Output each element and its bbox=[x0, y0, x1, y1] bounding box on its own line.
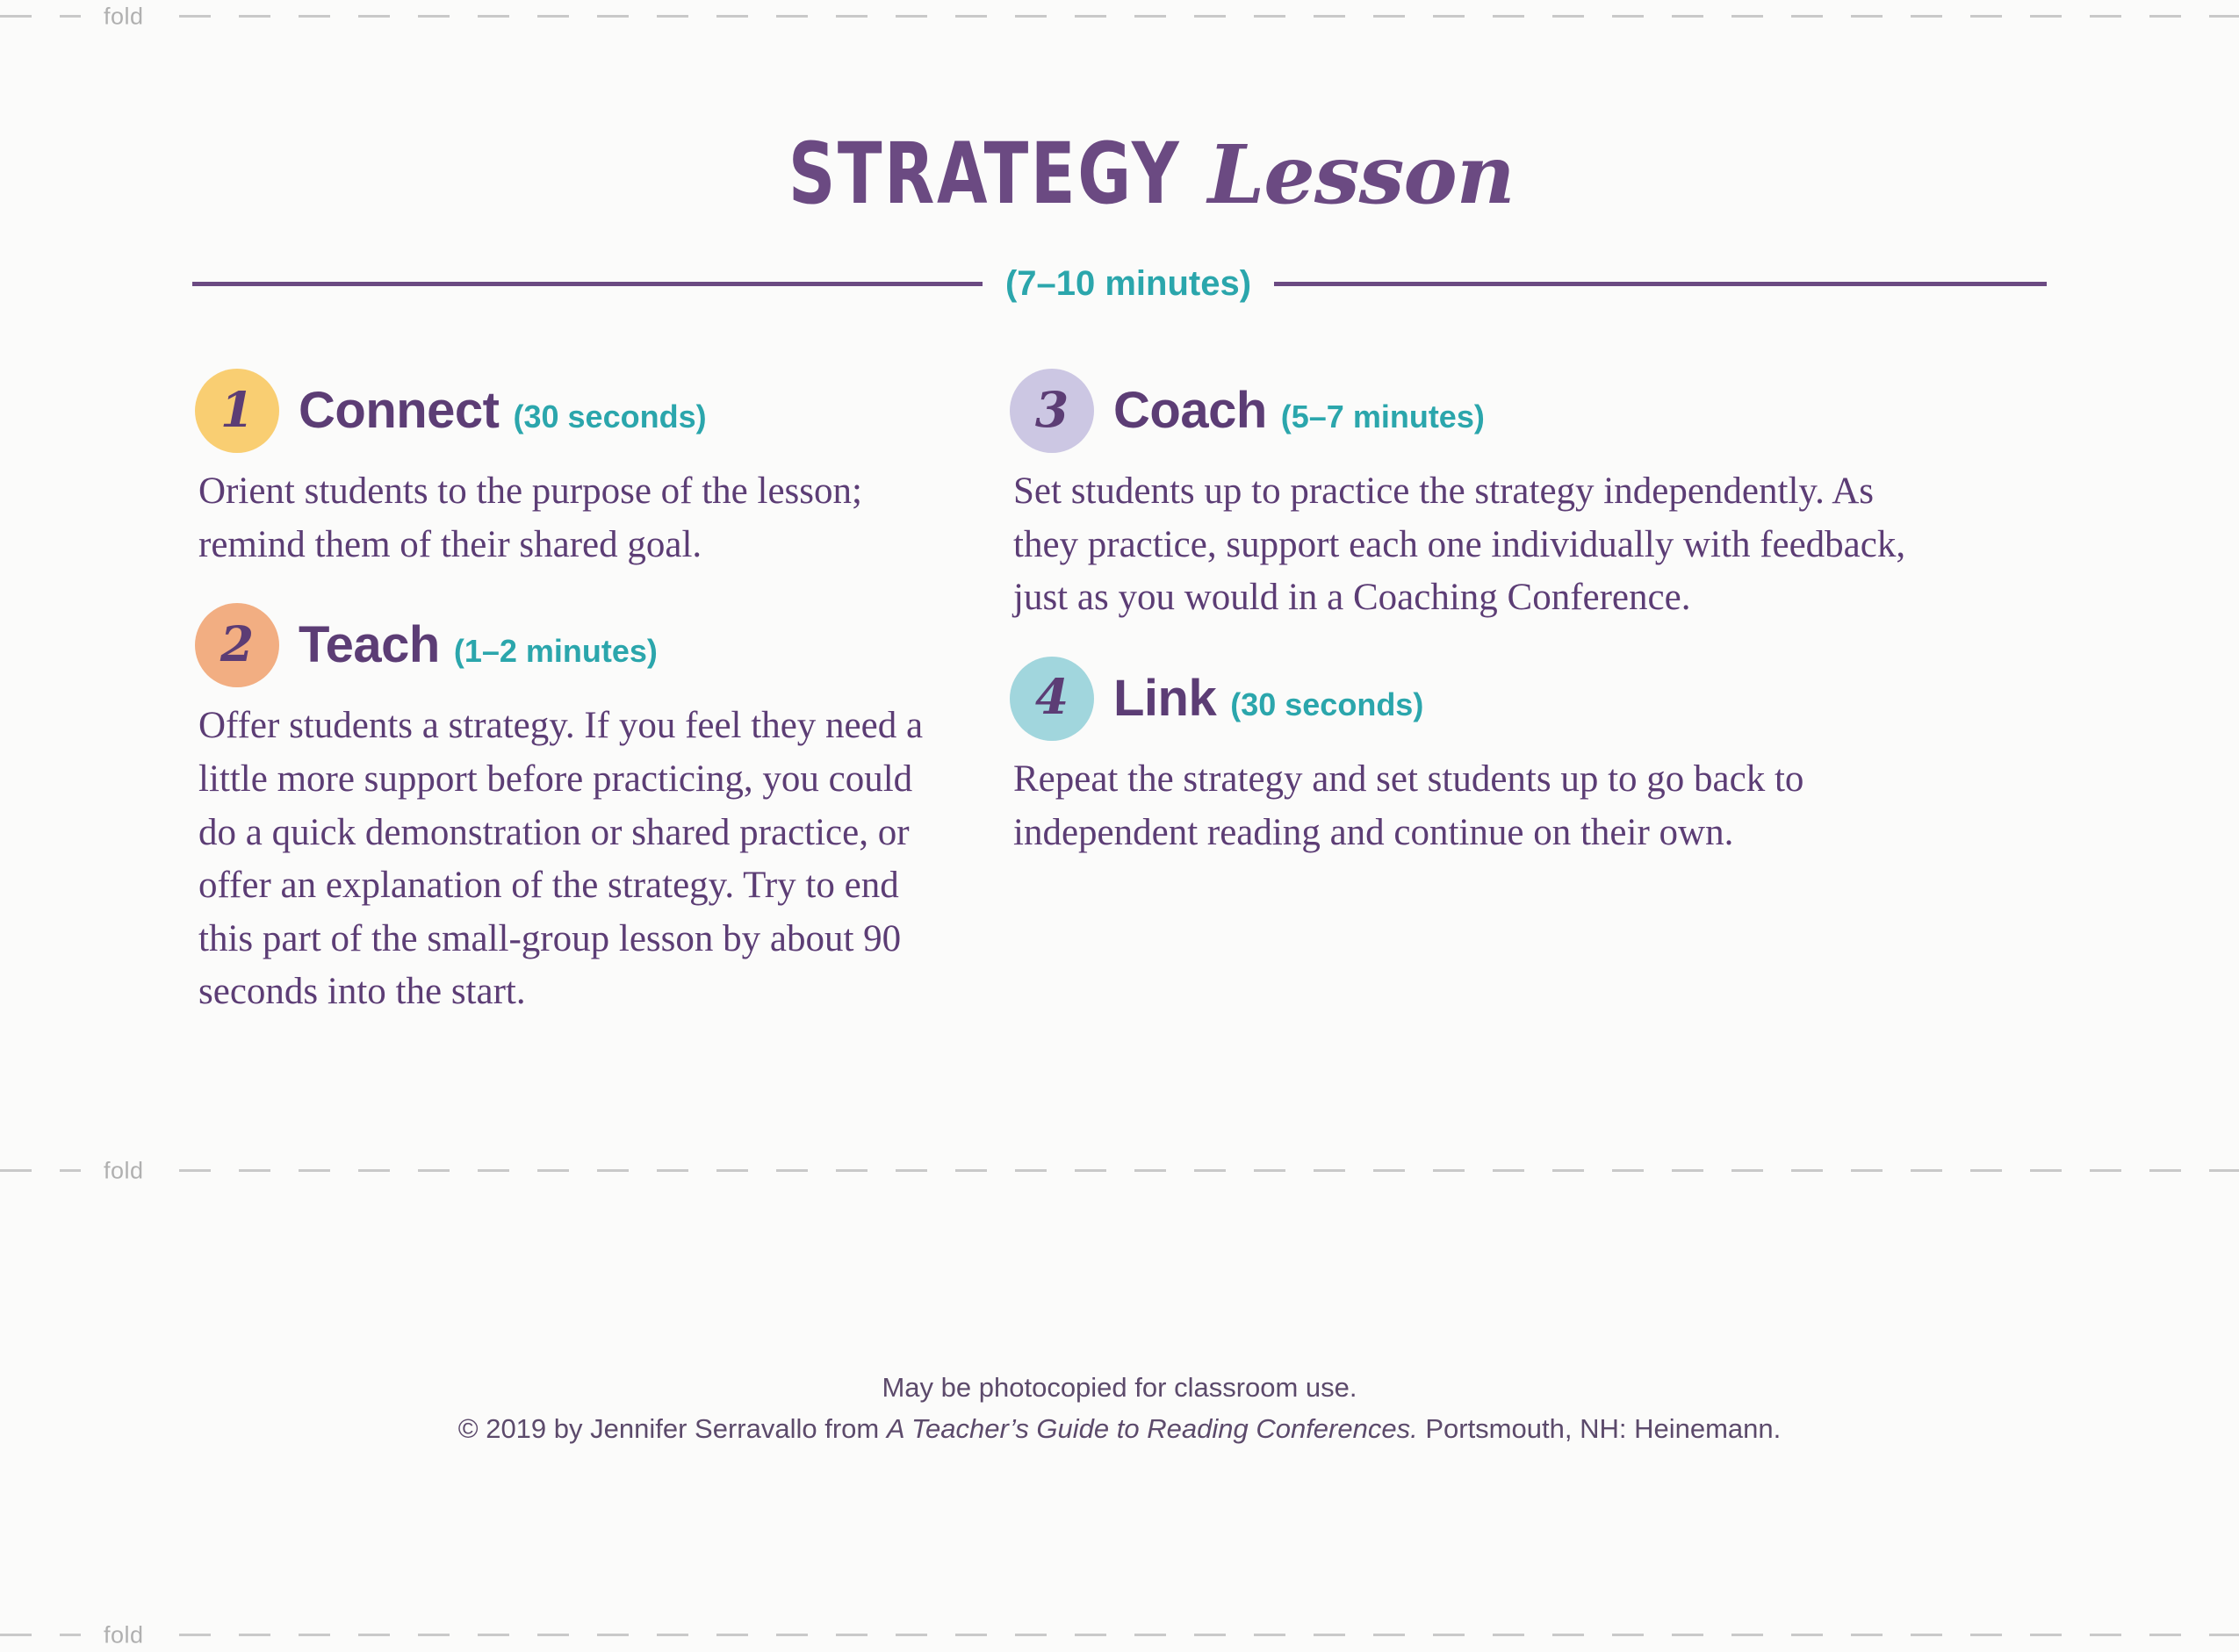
page-title-strong: STRATEGY bbox=[788, 132, 1181, 216]
step-number-3: 3 bbox=[1035, 385, 1069, 434]
step-link-title-wrap: Link (30 seconds) bbox=[1113, 673, 1423, 724]
step-link: 4 Link (30 seconds) Repeat the strategy … bbox=[1010, 657, 1998, 859]
title-rule-left bbox=[192, 282, 983, 286]
step-coach: 3 Coach (5–7 minutes) Set students up to… bbox=[1010, 369, 1998, 625]
step-number-circle-2: 2 bbox=[195, 603, 279, 687]
fold-line-middle bbox=[0, 1169, 2239, 1172]
fold-label-bottom: fold bbox=[81, 1619, 167, 1652]
step-connect-title-wrap: Connect (30 seconds) bbox=[299, 385, 707, 436]
page-footer: May be photocopied for classroom use. © … bbox=[0, 1368, 2239, 1449]
step-number-2: 2 bbox=[220, 620, 254, 668]
step-teach-title-wrap: Teach (1–2 minutes) bbox=[299, 620, 658, 671]
step-link-header: 4 Link (30 seconds) bbox=[1010, 657, 1998, 741]
step-teach: 2 Teach (1–2 minutes) Offer students a s… bbox=[195, 603, 944, 1019]
title-rule-right bbox=[1274, 282, 2047, 286]
step-connect-body: Orient students to the purpose of the le… bbox=[195, 465, 944, 571]
steps-column-left: 1 Connect (30 seconds) Orient students t… bbox=[0, 369, 944, 1028]
worksheet-page: fold fold fold STRATEGYLesson (7–10 minu… bbox=[0, 0, 2239, 1652]
step-coach-body: Set students up to practice the strategy… bbox=[1010, 465, 1944, 625]
fold-line-bottom bbox=[0, 1634, 2239, 1636]
step-connect-title: Connect bbox=[299, 385, 500, 436]
step-link-body: Repeat the strategy and set students up … bbox=[1010, 753, 1944, 859]
fold-label-middle: fold bbox=[81, 1154, 167, 1189]
step-number-circle-1: 1 bbox=[195, 369, 279, 453]
footer-copyright-pre: © 2019 by Jennifer Serravallo from bbox=[458, 1413, 887, 1444]
page-header: STRATEGYLesson bbox=[0, 132, 2239, 216]
fold-line-top bbox=[0, 15, 2239, 18]
step-link-title: Link bbox=[1113, 673, 1216, 724]
title-rule-row: (7–10 minutes) bbox=[0, 266, 2239, 301]
step-number-1: 1 bbox=[220, 385, 254, 434]
step-coach-header: 3 Coach (5–7 minutes) bbox=[1010, 369, 1998, 453]
step-teach-title: Teach bbox=[299, 620, 440, 671]
step-number-circle-3: 3 bbox=[1010, 369, 1094, 453]
step-number-circle-4: 4 bbox=[1010, 657, 1094, 741]
fold-label-top: fold bbox=[81, 0, 167, 34]
step-connect-header: 1 Connect (30 seconds) bbox=[195, 369, 944, 453]
steps-column-right: 3 Coach (5–7 minutes) Set students up to… bbox=[944, 369, 1998, 868]
step-number-4: 4 bbox=[1035, 672, 1069, 721]
footer-copyright-post: Portsmouth, NH: Heinemann. bbox=[1418, 1413, 1782, 1444]
page-title: STRATEGYLesson bbox=[0, 132, 2239, 216]
page-title-script: Lesson bbox=[1208, 134, 1515, 215]
step-coach-title: Coach bbox=[1113, 385, 1267, 436]
step-teach-header: 2 Teach (1–2 minutes) bbox=[195, 603, 944, 687]
footer-photocopy-notice: May be photocopied for classroom use. bbox=[0, 1368, 2239, 1409]
footer-book-title: A Teacher’s Guide to Reading Conferences… bbox=[887, 1413, 1418, 1444]
step-link-time: (30 seconds) bbox=[1230, 689, 1423, 721]
page-subtitle: (7–10 minutes) bbox=[983, 266, 1274, 301]
steps-columns: 1 Connect (30 seconds) Orient students t… bbox=[0, 369, 2239, 1028]
step-connect-time: (30 seconds) bbox=[514, 401, 707, 433]
footer-copyright: © 2019 by Jennifer Serravallo from A Tea… bbox=[0, 1409, 2239, 1450]
step-teach-time: (1–2 minutes) bbox=[454, 636, 658, 667]
step-coach-title-wrap: Coach (5–7 minutes) bbox=[1113, 385, 1485, 436]
step-coach-time: (5–7 minutes) bbox=[1281, 401, 1485, 433]
step-teach-body: Offer students a strategy. If you feel t… bbox=[195, 700, 944, 1019]
step-connect: 1 Connect (30 seconds) Orient students t… bbox=[195, 369, 944, 571]
